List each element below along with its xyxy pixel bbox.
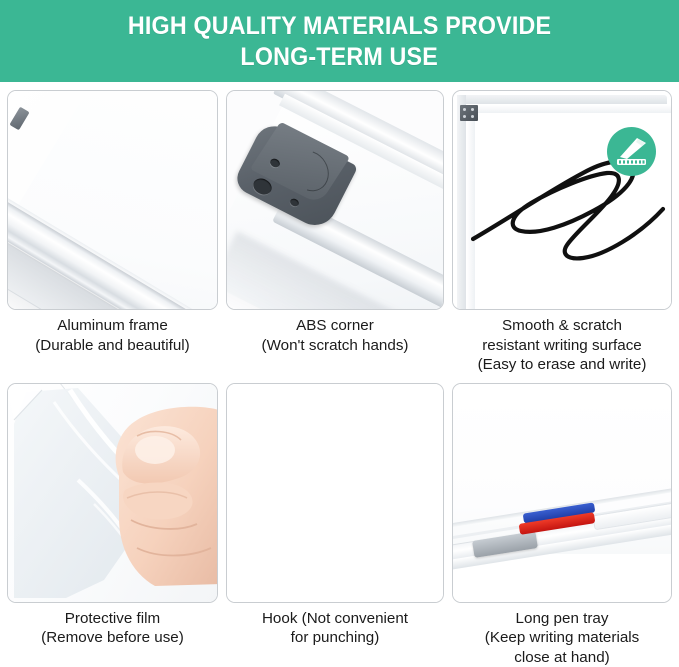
feature-cell-hook: Hook (Not convenient for punching): [223, 375, 447, 667]
feature-image-abs-corner: [226, 90, 444, 310]
whiteboard-corner-screw-4: [471, 115, 474, 118]
eraser-badge: [607, 127, 656, 176]
feature-cell-writing-surface: Smooth & scratch resistant writing surfa…: [447, 82, 679, 375]
whiteboard-inner-frame-top: [467, 105, 671, 113]
feature-caption-aluminum-frame: Aluminum frame (Durable and beautiful): [35, 316, 190, 355]
feature-image-protective-film: [7, 383, 218, 603]
feature-cell-aluminum-frame: Aluminum frame (Durable and beautiful): [0, 82, 223, 375]
feature-row-2: Protective film (Remove before use): [0, 375, 679, 667]
whiteboard-corner-screw-1: [463, 108, 466, 111]
header-banner: HIGH QUALITY MATERIALS PROVIDE LONG-TERM…: [0, 0, 679, 82]
whiteboard-corner-screw-2: [471, 108, 474, 111]
whiteboard-outer-frame-top: [457, 95, 667, 104]
feature-cell-protective-film: Protective film (Remove before use): [0, 375, 223, 667]
hook-background: [227, 384, 443, 602]
whiteboard-corner-screw-3: [463, 115, 466, 118]
feature-row-1: Aluminum frame (Durable and beautiful) A…: [0, 82, 679, 375]
whiteboard-outer-frame-left: [457, 95, 466, 309]
banner-title-line-1: HIGH QUALITY MATERIALS PROVIDE: [128, 11, 551, 42]
feature-caption-protective-film: Protective film (Remove before use): [41, 609, 184, 648]
feature-grid: Aluminum frame (Durable and beautiful) A…: [0, 82, 679, 667]
hand-peeling-film: [93, 398, 218, 593]
feature-image-pen-tray: [452, 383, 672, 603]
feature-caption-pen-tray: Long pen tray (Keep writing materials cl…: [485, 609, 639, 667]
feature-image-writing-surface: [452, 90, 672, 310]
feature-image-aluminum-frame: [7, 90, 218, 310]
feature-cell-abs-corner: ABS corner (Won't scratch hands): [223, 82, 447, 375]
feature-cell-pen-tray: Long pen tray (Keep writing materials cl…: [447, 375, 679, 667]
feature-caption-writing-surface: Smooth & scratch resistant writing surfa…: [478, 316, 647, 375]
feature-image-hook: [226, 383, 444, 603]
feature-caption-abs-corner: ABS corner (Won't scratch hands): [262, 316, 409, 355]
feature-caption-hook: Hook (Not convenient for punching): [262, 609, 408, 648]
banner-title-line-2: LONG-TERM USE: [241, 42, 438, 73]
